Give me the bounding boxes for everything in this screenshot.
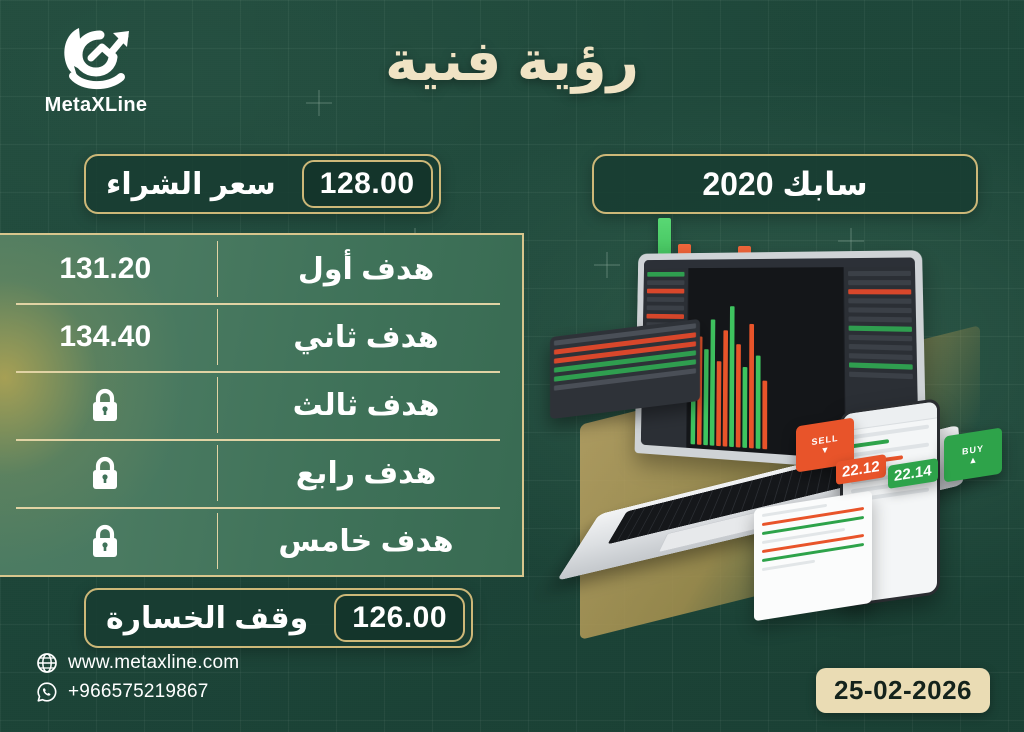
brand-name: MetaXLine bbox=[36, 94, 156, 117]
column-divider bbox=[217, 513, 219, 569]
trading-illustration: SELL ▼ BUY ▲ 22.12 22.14 bbox=[540, 210, 1024, 630]
stop-loss-box: 126.00 وقف الخسارة bbox=[84, 588, 473, 648]
targets-panel: هدف أول 131.20 هدف ثاني 134.40 هدف ثالث bbox=[0, 233, 524, 577]
lock-icon bbox=[90, 455, 120, 491]
column-divider bbox=[217, 241, 219, 297]
page-title: رؤية فنية bbox=[0, 28, 1024, 94]
buy-price-label: سعر الشراء bbox=[86, 167, 296, 202]
target-value: 131.20 bbox=[0, 252, 217, 286]
target-label: هدف رابع bbox=[218, 456, 522, 491]
stop-loss-value: 126.00 bbox=[334, 594, 465, 642]
target-value-locked bbox=[0, 523, 217, 559]
website-row[interactable]: www.metaxline.com bbox=[36, 652, 239, 674]
target-value-locked bbox=[0, 455, 217, 491]
poster-canvas: MetaXLine رؤية فنية سابك 2020 128.00 سعر… bbox=[0, 0, 1024, 732]
whatsapp-icon bbox=[36, 681, 58, 703]
column-divider bbox=[217, 309, 219, 365]
contact-info: www.metaxline.com +966575219867 bbox=[36, 652, 239, 710]
table-row: هدف أول 131.20 bbox=[0, 235, 522, 303]
symbol-name: سابك 2020 bbox=[682, 165, 887, 203]
lock-icon bbox=[90, 523, 120, 559]
sell-arrow-icon: ▼ bbox=[821, 445, 830, 455]
market-overview-card bbox=[754, 491, 872, 622]
buy-price-value: 128.00 bbox=[302, 160, 433, 208]
table-row: هدف ثاني 134.40 bbox=[0, 303, 522, 371]
stop-loss-label: وقف الخسارة bbox=[86, 601, 328, 636]
date-badge: 25-02-2026 bbox=[816, 668, 990, 713]
table-row: هدف ثالث bbox=[0, 371, 522, 439]
lock-icon bbox=[90, 387, 120, 423]
target-label: هدف أول bbox=[218, 252, 522, 287]
phone-text: +966575219867 bbox=[68, 681, 209, 703]
buy-arrow-icon: ▲ bbox=[969, 455, 978, 465]
target-label: هدف ثاني bbox=[218, 320, 522, 355]
target-value-locked bbox=[0, 387, 217, 423]
buy-tag: BUY ▲ bbox=[944, 427, 1002, 482]
symbol-box: سابك 2020 bbox=[592, 154, 978, 214]
targets-table: هدف أول 131.20 هدف ثاني 134.40 هدف ثالث bbox=[0, 235, 522, 575]
column-divider bbox=[217, 377, 219, 433]
target-value: 134.40 bbox=[0, 320, 217, 354]
buy-price-box: 128.00 سعر الشراء bbox=[84, 154, 441, 214]
globe-icon bbox=[36, 652, 58, 674]
column-divider bbox=[217, 445, 219, 501]
phone-row[interactable]: +966575219867 bbox=[36, 681, 239, 703]
table-row: هدف رابع bbox=[0, 439, 522, 507]
target-label: هدف خامس bbox=[218, 524, 522, 559]
table-row: هدف خامس bbox=[0, 507, 522, 575]
target-label: هدف ثالث bbox=[218, 388, 522, 423]
website-text: www.metaxline.com bbox=[68, 652, 239, 674]
